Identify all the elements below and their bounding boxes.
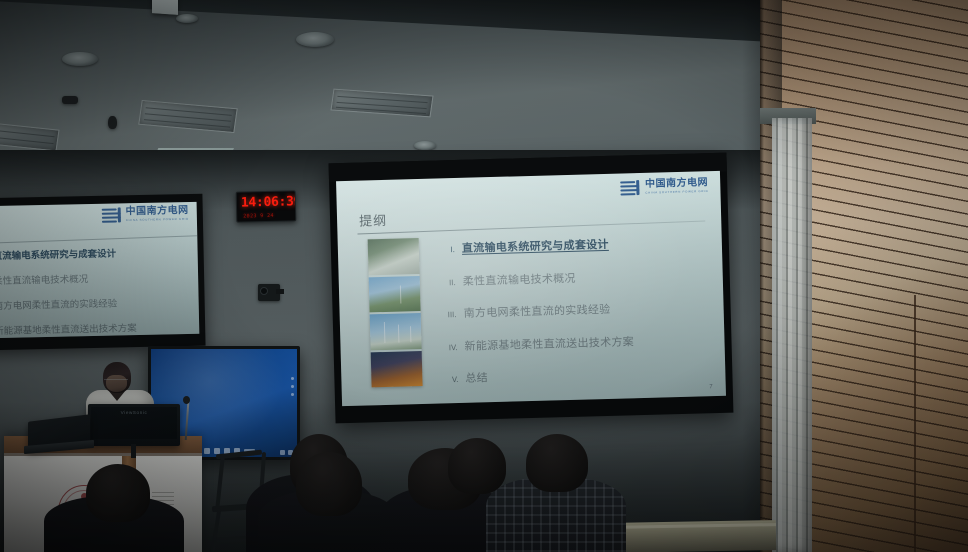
clock-date: 2023 9 24 [243, 213, 274, 220]
audience-member-head [526, 434, 588, 492]
secondary-slide-rule [0, 235, 197, 244]
presenter-glasses-icon [104, 379, 128, 384]
secondary-projection-screen: 中国南方电网 CHINA SOUTHERN POWER GRID I. 直流输电… [0, 194, 206, 351]
clock-time: 14:06:39 [241, 194, 297, 210]
transmission-line-mountain-photo [369, 276, 421, 313]
csg-logo-text-en: CHINA SOUTHERN POWER GRID [126, 217, 189, 222]
outline-item: II. 柔性直流输电技术概况 [0, 269, 198, 288]
camera-mount-arm [276, 289, 284, 294]
csg-logo-text-cn: 中国南方电网 [126, 206, 189, 218]
slide-title: 提纲 [359, 210, 388, 230]
outline-item-label: 新能源基地柔性直流送出技术方案 [464, 333, 634, 354]
wood-panel-seam [914, 295, 916, 552]
ceiling-speaker-icon [108, 116, 117, 129]
audience-member-head [296, 452, 362, 516]
downlight-icon [414, 141, 436, 150]
outline-item-number: III. [442, 310, 457, 319]
outline-item-label: 柔性直流输电技术概况 [463, 269, 576, 288]
outline-item-number: V. [443, 375, 458, 384]
outline-item-label: 直流输电系统研究与成套设计 [0, 246, 116, 263]
outline-item-number: I. [440, 245, 455, 254]
downlight-icon [296, 32, 334, 47]
csg-logo-mark-icon [620, 180, 641, 196]
display-side-dot[interactable] [291, 393, 294, 396]
csg-logo-secondary: 中国南方电网 CHINA SOUTHERN POWER GRID [102, 206, 189, 223]
outline-item: IV. 新能源基地柔性直流送出技术方案 [0, 319, 199, 338]
lecture-hall-scene: 中国南方电网 CHINA SOUTHERN POWER GRID 提纲 I. 直… [0, 0, 968, 552]
secondary-outline-list: I. 直流输电系统研究与成套设计 II. 柔性直流输电技术概况 III. 南方电… [0, 244, 199, 339]
csg-logo-mark-icon [102, 207, 123, 222]
camera-lens-icon [260, 287, 268, 295]
projection-screen: 中国南方电网 CHINA SOUTHERN POWER GRID 提纲 I. 直… [329, 153, 734, 424]
dam-spillway-photo [368, 238, 420, 275]
outline-item-number: IV. [442, 343, 457, 352]
csg-logo-text-en: CHINA SOUTHERN POWER GRID [645, 189, 708, 194]
csg-logo: 中国南方电网 CHINA SOUTHERN POWER GRID [620, 178, 708, 195]
outline-item: III. 南方电网柔性直流的实践经验 [0, 294, 199, 313]
microphone-icon[interactable] [183, 396, 190, 404]
audience-member-head [86, 464, 150, 522]
slide-page-number: 7 [709, 384, 713, 390]
display-side-controls[interactable] [291, 377, 294, 396]
night-city-photo [371, 350, 423, 387]
secondary-slide-content: 中国南方电网 CHINA SOUTHERN POWER GRID I. 直流输电… [0, 202, 199, 338]
outline-item: I. 直流输电系统研究与成套设计 [0, 244, 198, 263]
outline-item: IV. 新能源基地柔性直流送出技术方案 [442, 331, 710, 354]
outline-item-label: 直流输电系统研究与成套设计 [462, 236, 609, 256]
projector [152, 0, 178, 15]
outline-item: III. 南方电网柔性直流的实践经验 [441, 298, 709, 321]
slide-outline-list: I. 直流输电系统研究与成套设计 II. 柔性直流输电技术概况 III. 南方电… [440, 233, 712, 403]
outline-item-label: 南方电网柔性直流的实践经验 [0, 296, 117, 313]
outline-item: II. 柔性直流输电技术概况 [441, 266, 709, 289]
display-side-dot[interactable] [291, 385, 294, 388]
pylon-array-photo [370, 313, 422, 350]
outline-item: I. 直流输电系统研究与成套设计 [440, 233, 708, 256]
slide-title-rule [357, 220, 705, 234]
wall-camera-icon [258, 284, 280, 301]
outline-item-label: 柔性直流输电技术概况 [0, 271, 88, 287]
ceiling-speaker-icon [62, 96, 78, 104]
audience-member-head [448, 438, 506, 494]
outline-item-label: 新能源基地柔性直流送出技术方案 [0, 320, 137, 337]
slide-content: 中国南方电网 CHINA SOUTHERN POWER GRID 提纲 I. 直… [336, 171, 726, 406]
display-side-dot[interactable] [291, 377, 294, 380]
led-wall-clock: 14:06:39 2023 9 24 [236, 190, 297, 222]
slide-photo-strip [368, 238, 423, 387]
outline-item-label: 南方电网柔性直流的实践经验 [463, 301, 610, 321]
downlight-icon [62, 52, 98, 66]
outline-item: V. 总结 [443, 363, 711, 386]
audience-row [0, 412, 790, 552]
downlight-icon [176, 14, 198, 23]
outline-item-number: II. [441, 278, 456, 287]
outline-item-label: 总结 [465, 369, 488, 386]
